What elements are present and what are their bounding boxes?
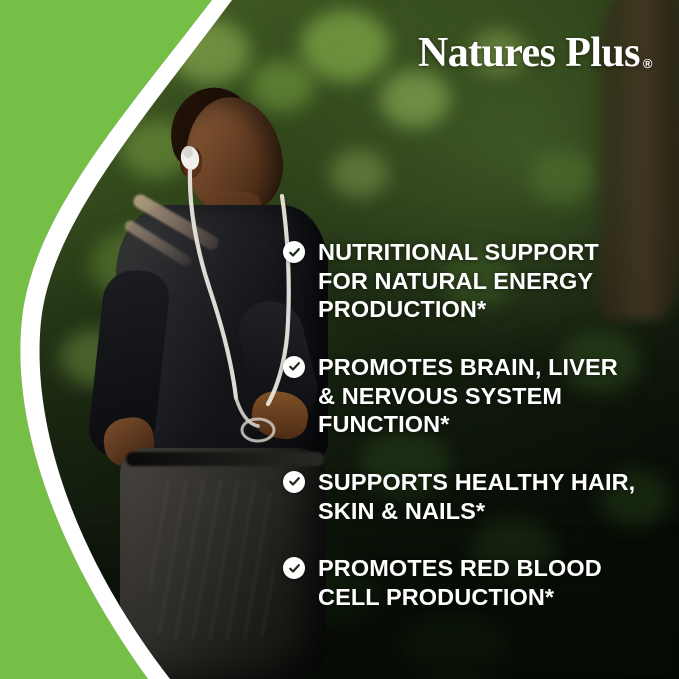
benefit-item: SUPPORTS HEALTHY HAIR, SKIN & NAILS* (283, 468, 653, 525)
benefit-label: NUTRITIONAL SUPPORT FOR NATURAL ENERGY P… (318, 238, 599, 324)
check-circle-icon (283, 471, 305, 493)
check-circle-icon (283, 241, 305, 263)
check-circle-icon (283, 557, 305, 579)
benefit-label: PROMOTES BRAIN, LIVER & NERVOUS SYSTEM F… (318, 353, 618, 439)
benefit-label: PROMOTES RED BLOOD CELL PRODUCTION* (318, 554, 602, 611)
shorts-fabric-folds (150, 480, 274, 640)
check-circle-icon (283, 356, 305, 378)
benefits-list: NUTRITIONAL SUPPORT FOR NATURAL ENERGY P… (283, 238, 653, 612)
runner-ear (180, 148, 202, 178)
registered-trademark-icon: ® (643, 56, 653, 71)
benefit-item: NUTRITIONAL SUPPORT FOR NATURAL ENERGY P… (283, 238, 653, 324)
benefit-item: PROMOTES BRAIN, LIVER & NERVOUS SYSTEM F… (283, 353, 653, 439)
foliage-bokeh (530, 150, 596, 204)
benefit-item: PROMOTES RED BLOOD CELL PRODUCTION* (283, 554, 653, 611)
brand-logo-text: Natures Plus (418, 32, 640, 74)
product-benefits-banner: Natures Plus ® NUTRITIONAL SUPPORT FOR N… (0, 0, 679, 679)
brand-logo: Natures Plus ® (418, 32, 652, 74)
benefit-label: SUPPORTS HEALTHY HAIR, SKIN & NAILS* (318, 468, 635, 525)
